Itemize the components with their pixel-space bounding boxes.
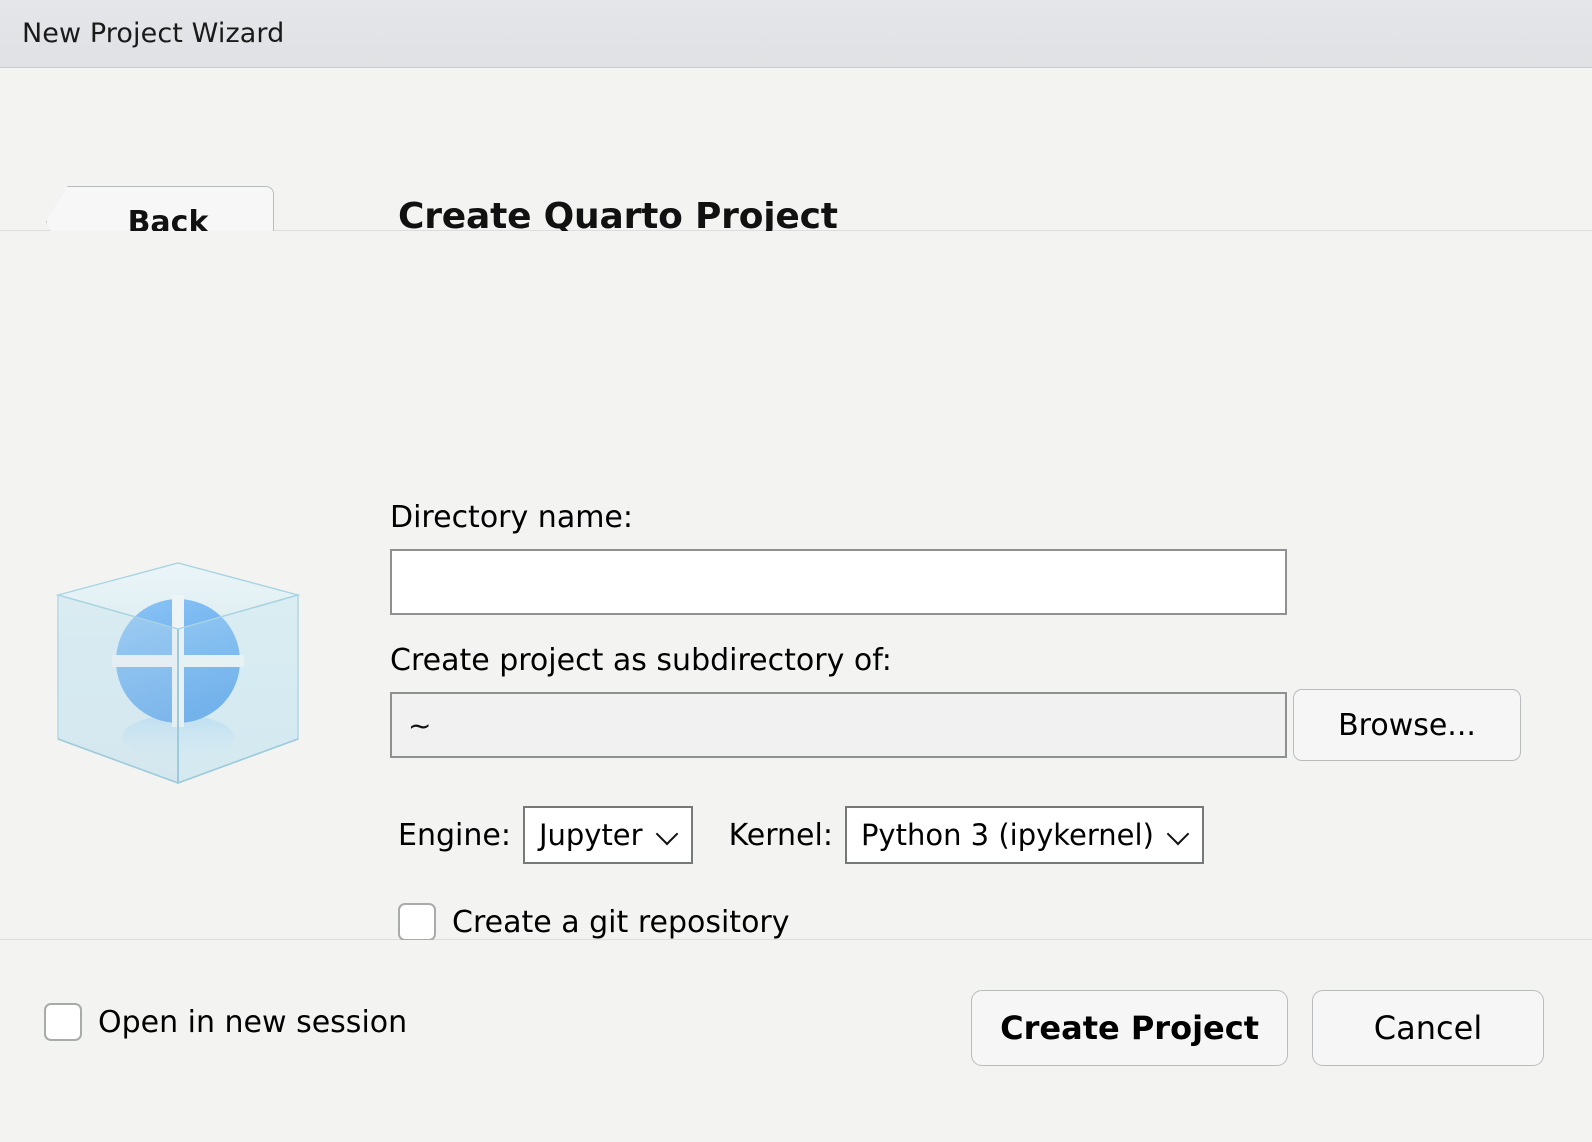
git-repository-label: Create a git repository bbox=[452, 905, 790, 940]
kernel-select[interactable]: Python 3 (ipykernel) bbox=[845, 806, 1204, 864]
engine-label: Engine: bbox=[398, 818, 511, 853]
window-title: New Project Wizard bbox=[22, 18, 284, 49]
directory-name-input[interactable] bbox=[390, 549, 1287, 615]
kernel-select-value: Python 3 (ipykernel) bbox=[861, 818, 1154, 852]
open-in-new-session-row: Open in new session bbox=[44, 1003, 407, 1041]
git-repository-checkbox[interactable] bbox=[398, 903, 436, 941]
footer-actions: Create Project Cancel bbox=[971, 990, 1544, 1066]
wizard-footer: Open in new session Create Project Cance… bbox=[0, 940, 1592, 1140]
create-project-button[interactable]: Create Project bbox=[971, 990, 1288, 1066]
chevron-down-icon bbox=[1168, 824, 1190, 846]
browse-button[interactable]: Browse... bbox=[1293, 689, 1521, 761]
subdirectory-label: Create project as subdirectory of: bbox=[390, 643, 892, 678]
git-repository-row: Create a git repository bbox=[398, 903, 790, 941]
window-title-bar: New Project Wizard bbox=[0, 0, 1592, 68]
chevron-down-icon bbox=[657, 824, 679, 846]
wizard-header: Back Create Quarto Project bbox=[0, 68, 1592, 231]
wizard-body: Directory name: Create project as subdir… bbox=[0, 231, 1592, 940]
quarto-cube-sphere-icon bbox=[44, 543, 312, 795]
directory-name-label: Directory name: bbox=[390, 500, 633, 535]
engine-kernel-row: Engine: Jupyter Kernel: Python 3 (ipyker… bbox=[398, 806, 1204, 864]
cancel-button[interactable]: Cancel bbox=[1312, 990, 1544, 1066]
open-in-new-session-label: Open in new session bbox=[98, 1005, 407, 1040]
kernel-label: Kernel: bbox=[729, 818, 833, 853]
subdirectory-input[interactable] bbox=[390, 692, 1287, 758]
engine-select-value: Jupyter bbox=[539, 818, 643, 852]
open-in-new-session-checkbox[interactable] bbox=[44, 1003, 82, 1041]
engine-select[interactable]: Jupyter bbox=[523, 806, 693, 864]
